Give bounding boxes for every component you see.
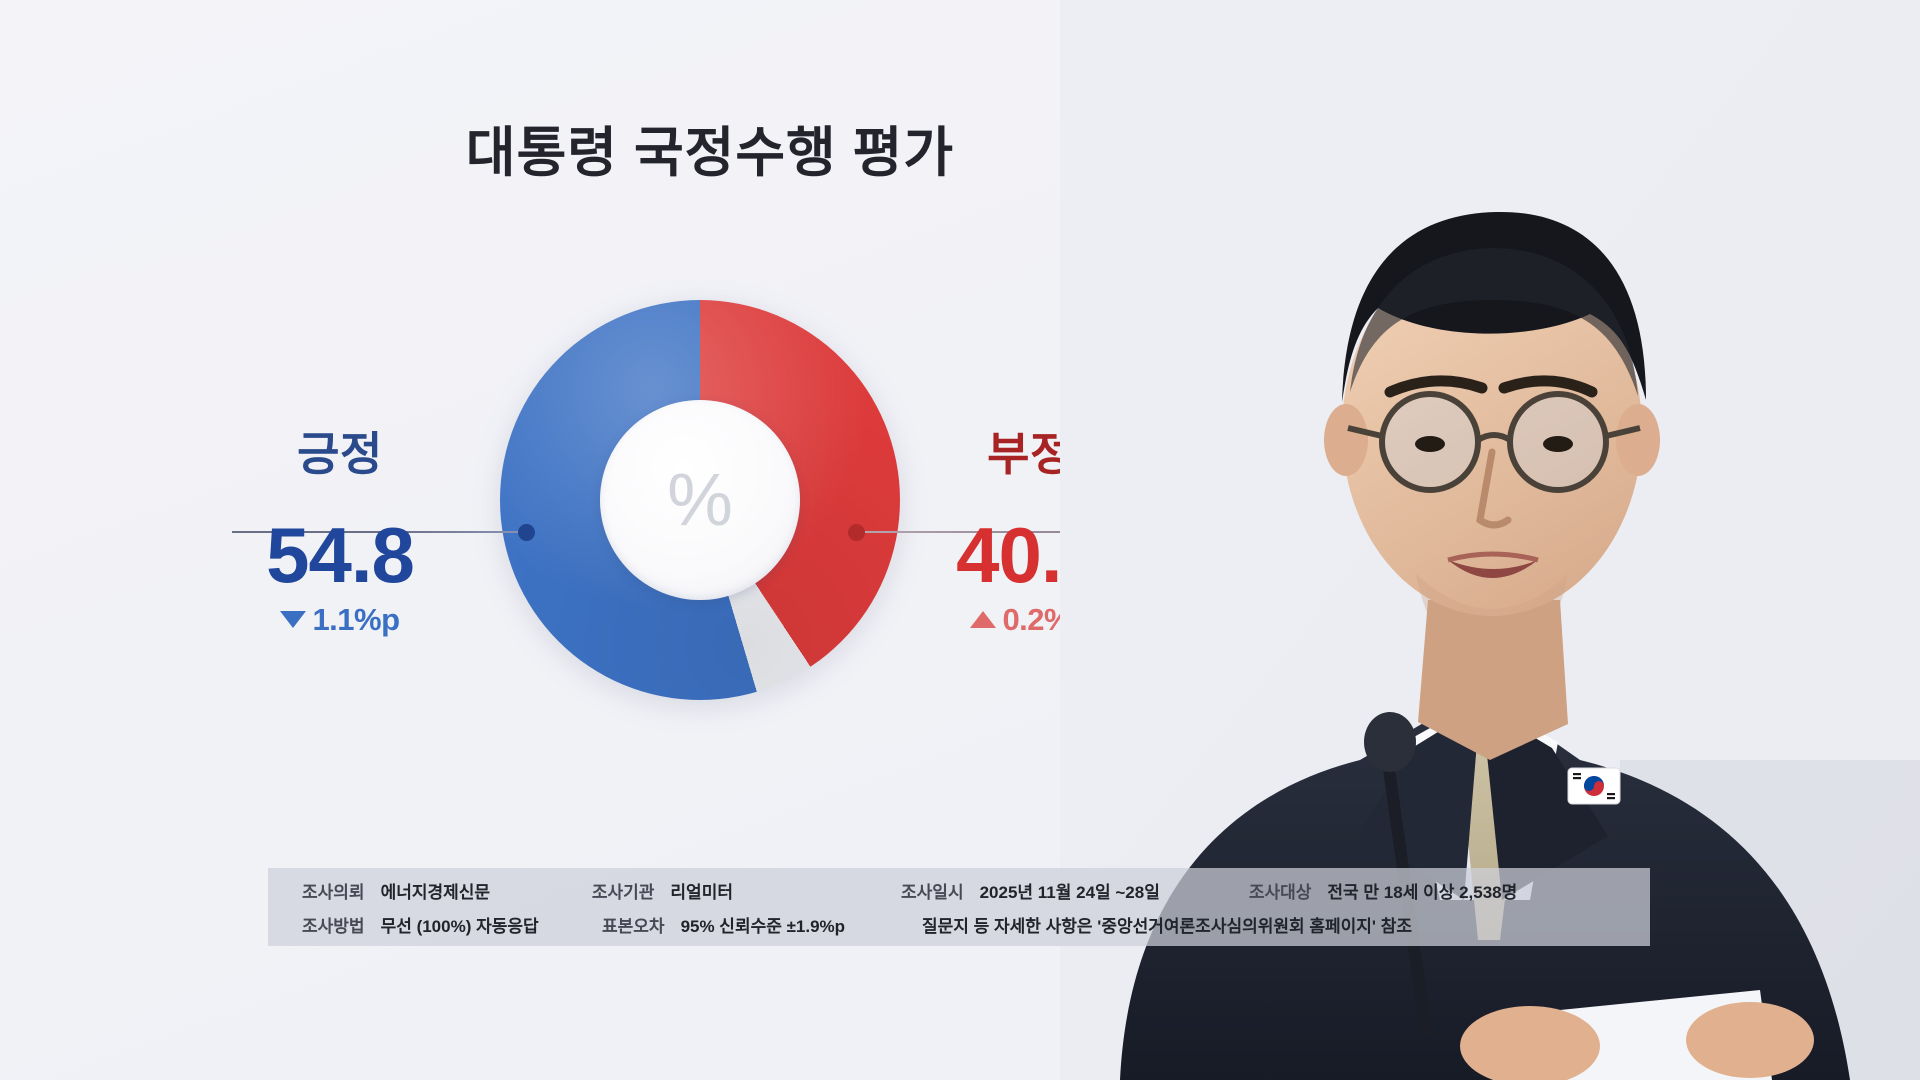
positive-delta: 1.1%p <box>190 602 490 638</box>
survey-method-value: 무선 (100%) 자동응답 <box>381 912 539 937</box>
survey-agency: 조사기관 리얼미터 <box>592 878 901 903</box>
survey-agency-key: 조사기관 <box>592 878 655 903</box>
donut-chart: % <box>500 300 900 700</box>
survey-target-key: 조사대상 <box>1249 878 1312 903</box>
stat-block-positive: 긍정 54.8 1.1%p <box>190 430 490 638</box>
survey-date: 조사일시 2025년 11월 24일 ~28일 <box>901 878 1249 903</box>
survey-note: 질문지 등 자세한 사항은 '중앙선거여론조사심의위원회 홈페이지' 참조 <box>922 912 1602 937</box>
survey-method-key: 조사방법 <box>302 912 365 937</box>
positive-delta-text: 1.1%p <box>312 602 399 638</box>
survey-target: 조사대상 전국 만 18세 이상 2,538명 <box>1249 878 1616 903</box>
survey-client-key: 조사의뢰 <box>302 878 365 903</box>
callout-dot-negative <box>848 524 865 541</box>
donut-center: % <box>600 400 800 600</box>
positive-value: 54.8 <box>190 516 490 596</box>
survey-note-text: 질문지 등 자세한 사항은 '중앙선거여론조사심의위원회 홈페이지' 참조 <box>922 912 1412 937</box>
survey-date-key: 조사일시 <box>901 878 964 903</box>
survey-info-row-1: 조사의뢰 에너지경제신문 조사기관 리얼미터 조사일시 2025년 11월 24… <box>302 878 1616 903</box>
callout-dot-positive <box>518 524 535 541</box>
survey-margin-value: 95% 신뢰수준 ±1.9%p <box>681 912 846 937</box>
survey-client-value: 에너지경제신문 <box>381 878 490 903</box>
positive-label: 긍정 <box>190 430 490 478</box>
survey-margin: 표본오차 95% 신뢰수준 ±1.9%p <box>602 912 922 937</box>
triangle-down-icon <box>280 611 306 628</box>
survey-client: 조사의뢰 에너지경제신문 <box>302 878 592 903</box>
survey-date-value: 2025년 11월 24일 ~28일 <box>980 878 1160 903</box>
survey-info-bar: 조사의뢰 에너지경제신문 조사기관 리얼미터 조사일시 2025년 11월 24… <box>268 868 1650 946</box>
triangle-up-icon <box>970 611 996 628</box>
percent-symbol: % <box>667 463 733 537</box>
survey-target-value: 전국 만 18세 이상 2,538명 <box>1327 878 1517 903</box>
survey-margin-key: 표본오차 <box>602 912 665 937</box>
survey-agency-value: 리얼미터 <box>670 878 733 903</box>
survey-method: 조사방법 무선 (100%) 자동응답 <box>302 912 602 937</box>
survey-info-row-2: 조사방법 무선 (100%) 자동응답 표본오차 95% 신뢰수준 ±1.9%p… <box>302 912 1616 937</box>
